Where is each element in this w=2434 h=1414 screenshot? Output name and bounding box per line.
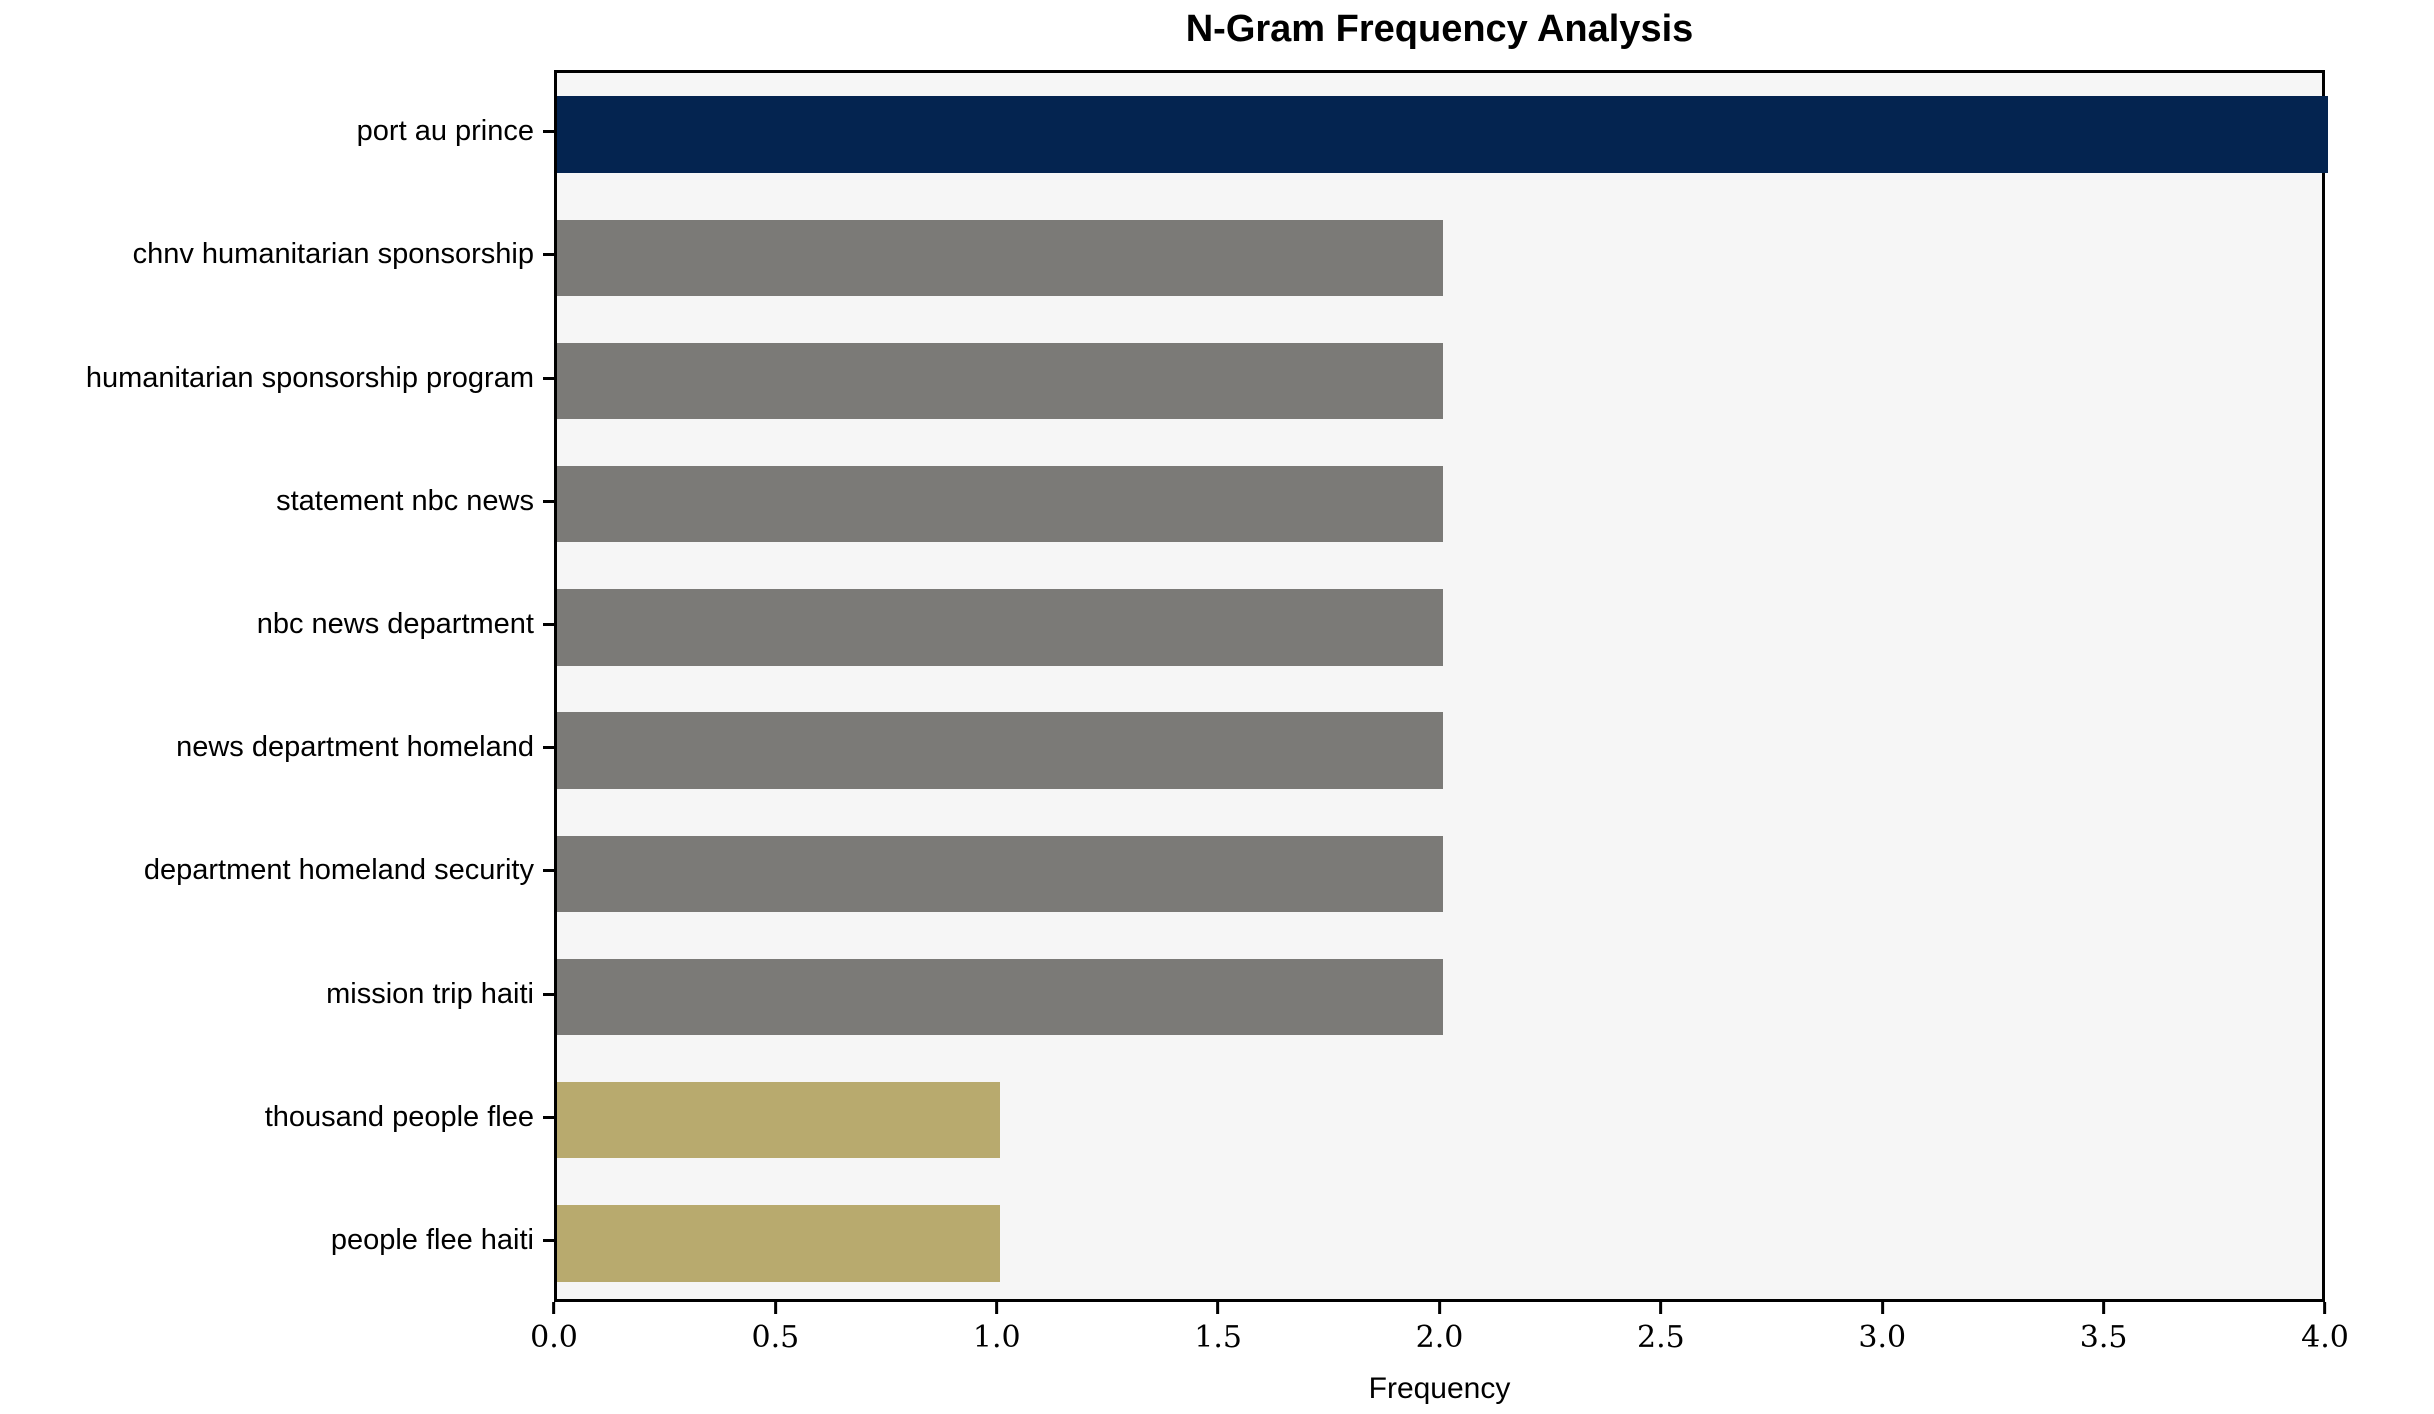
x-axis-tick-mark (1438, 1302, 1441, 1314)
x-axis-tick-mark (774, 1302, 777, 1314)
x-axis-tick-label: 2.0 (1416, 1323, 1464, 1353)
x-axis-tick-mark (553, 1302, 556, 1314)
y-axis-tick-mark (543, 869, 554, 872)
bar (557, 220, 1443, 296)
x-axis-tick-mark (2102, 1302, 2105, 1314)
x-axis-tick-mark (1659, 1302, 1662, 1314)
x-axis-tick: 1.0 (973, 1302, 1021, 1353)
y-axis-tick-label: humanitarian sponsorship program (86, 364, 534, 393)
x-axis-tick-label: 3.5 (2080, 1323, 2128, 1353)
x-axis-title: Frequency (554, 1372, 2325, 1406)
y-axis-tick-label: mission trip haiti (326, 980, 534, 1009)
x-axis-tick-label: 1.5 (1194, 1323, 1242, 1353)
y-axis-tick-label: department homeland security (144, 856, 534, 885)
x-axis: Frequency 0.00.51.01.52.02.53.03.54.0 (554, 1302, 2325, 1414)
x-axis-tick: 3.0 (1858, 1302, 1906, 1353)
x-axis-tick: 2.5 (1637, 1302, 1685, 1353)
x-axis-tick-mark (1217, 1302, 1220, 1314)
page-title: N-Gram Frequency Analysis (554, 4, 2325, 54)
x-axis-tick-label: 0.5 (752, 1323, 800, 1353)
y-axis: port au princechnv humanitarian sponsors… (0, 70, 554, 1302)
y-axis-tick-mark (543, 1116, 554, 1119)
y-axis-tick-label: statement nbc news (276, 487, 534, 516)
y-axis-tick-mark (543, 993, 554, 996)
bar (557, 1082, 1000, 1158)
chart-figure: N-Gram Frequency Analysis port au prince… (0, 0, 2434, 1414)
x-axis-tick: 2.0 (1416, 1302, 1464, 1353)
y-axis-tick-label: news department homeland (176, 733, 534, 762)
y-axis-tick-label: thousand people flee (265, 1103, 534, 1132)
x-axis-tick-mark (1881, 1302, 1884, 1314)
y-axis-tick-label: people flee haiti (331, 1226, 534, 1255)
y-axis-tick-mark (543, 130, 554, 133)
x-axis-tick: 3.5 (2080, 1302, 2128, 1353)
bar (557, 466, 1443, 542)
x-axis-tick: 0.0 (530, 1302, 578, 1353)
bar (557, 589, 1443, 665)
y-axis-tick-mark (543, 623, 554, 626)
bar (557, 959, 1443, 1035)
x-axis-tick-label: 4.0 (2301, 1323, 2349, 1353)
y-axis-tick-label: port au prince (357, 117, 534, 146)
x-axis-tick-mark (2324, 1302, 2327, 1314)
x-axis-tick: 1.5 (1194, 1302, 1242, 1353)
y-axis-tick-mark (543, 1239, 554, 1242)
y-axis-tick-mark (543, 253, 554, 256)
x-axis-tick: 0.5 (752, 1302, 800, 1353)
x-axis-tick-mark (995, 1302, 998, 1314)
x-axis-tick-label: 3.0 (1858, 1323, 1906, 1353)
y-axis-tick-mark (543, 377, 554, 380)
bar (557, 96, 2328, 172)
x-axis-tick: 4.0 (2301, 1302, 2349, 1353)
x-axis-tick-label: 0.0 (530, 1323, 578, 1353)
bar (557, 1205, 1000, 1281)
y-axis-tick-label: chnv humanitarian sponsorship (133, 240, 534, 269)
y-axis-tick-label: nbc news department (257, 610, 534, 639)
bars-layer (557, 73, 2322, 1299)
bar (557, 836, 1443, 912)
y-axis-tick-mark (543, 500, 554, 503)
bar (557, 712, 1443, 788)
x-axis-tick-label: 2.5 (1637, 1323, 1685, 1353)
plot-area (554, 70, 2325, 1302)
bar (557, 343, 1443, 419)
y-axis-tick-mark (543, 746, 554, 749)
x-axis-tick-label: 1.0 (973, 1323, 1021, 1353)
